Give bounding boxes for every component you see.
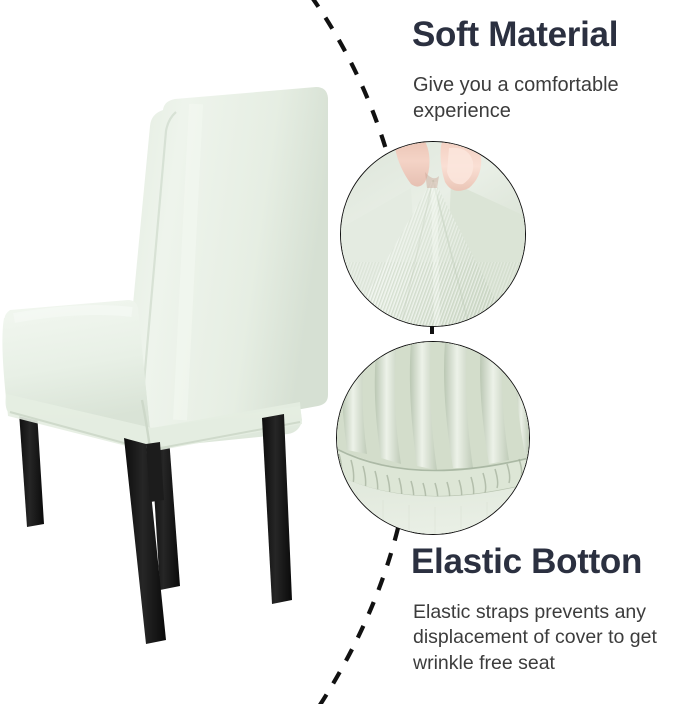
feature-title-soft-material: Soft Material (412, 17, 618, 54)
feature-title-elastic-bottom: Elastic Botton (411, 544, 642, 581)
feature-description-elastic-bottom: Elastic straps prevents any displacement… (413, 600, 669, 676)
fabric-pinch-illustration (341, 142, 525, 326)
feature-image-soft-material (340, 141, 526, 327)
gathered-pleats-upper (337, 342, 529, 474)
elastic-hem-illustration (337, 342, 529, 534)
feature-description-soft-material: Give you a comfortable experience (413, 72, 665, 124)
infographic-canvas: Soft Material Give you a comfortable exp… (0, 0, 679, 704)
callout-curve-path-lower (318, 528, 398, 704)
feature-image-elastic-bottom (336, 341, 530, 535)
